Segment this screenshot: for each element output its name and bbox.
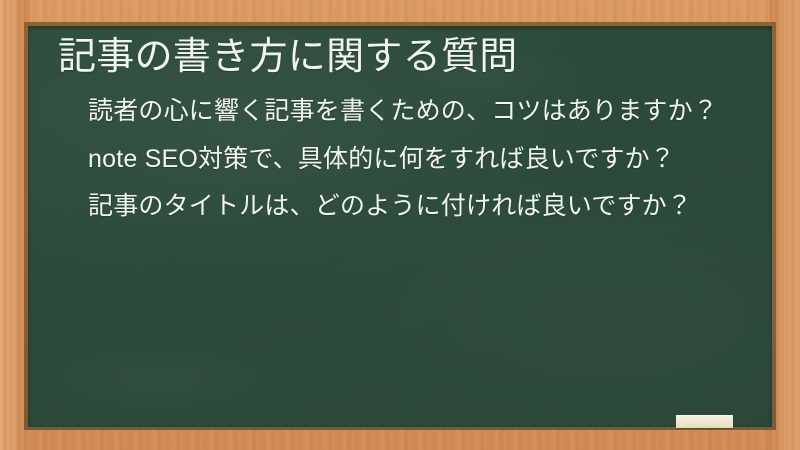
chalkboard-surface: 記事の書き方に関する質問 読者の心に響く記事を書くための、コツはありますか？ n… (28, 26, 772, 427)
question-list: 読者の心に響く記事を書くための、コツはありますか？ note SEO対策で、具体… (30, 94, 754, 225)
chalkboard-content: 記事の書き方に関する質問 読者の心に響く記事を書くための、コツはありますか？ n… (28, 26, 772, 427)
chalk-eraser-icon (676, 415, 733, 428)
chalkboard-slide: 記事の書き方に関する質問 読者の心に響く記事を書くための、コツはありますか？ n… (0, 0, 800, 450)
question-item-3: 記事のタイトルは、どのように付ければ良いですか？ (80, 189, 736, 225)
question-item-1: 読者の心に響く記事を書くための、コツはありますか？ (80, 94, 736, 130)
slide-title: 記事の書き方に関する質問 (30, 34, 754, 80)
question-item-2: note SEO対策で、具体的に何をすれば良いですか？ (80, 142, 736, 178)
